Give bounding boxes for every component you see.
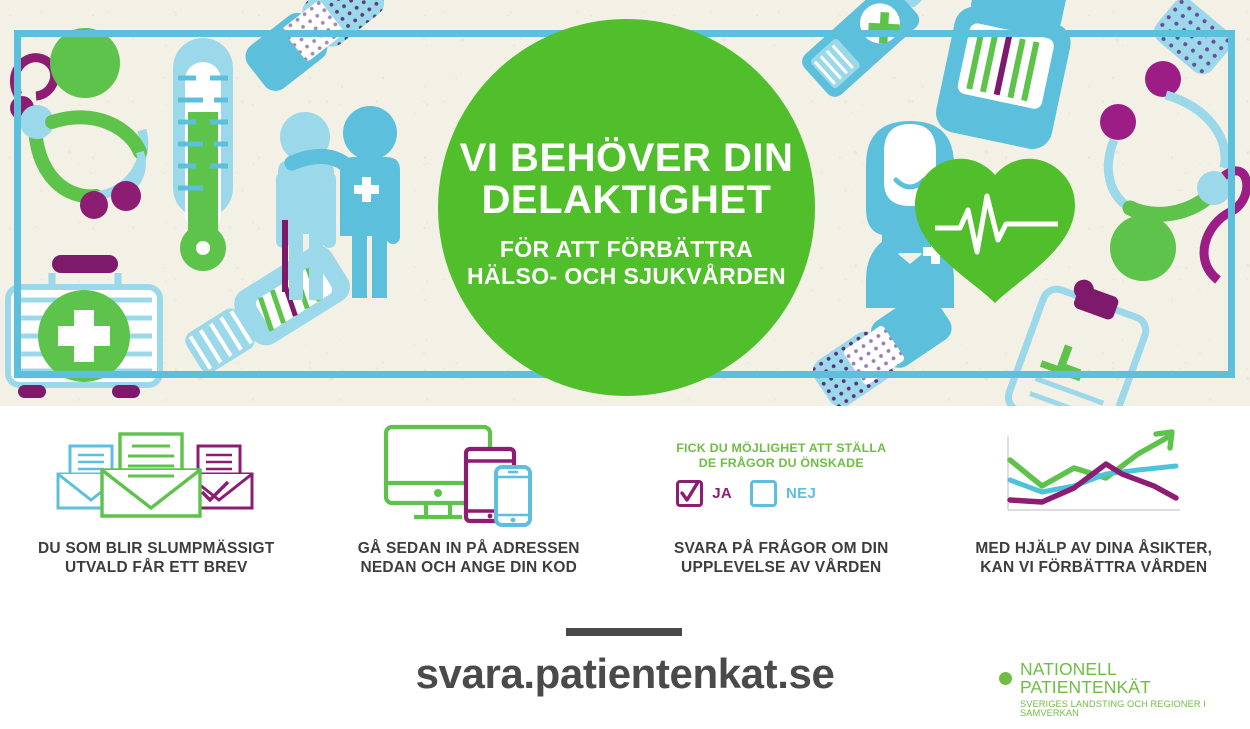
nationell-patientenkat-logo: NATIONELL PATIENTENKÄT SVERIGES LANDSTIN…: [999, 661, 1239, 719]
survey-question-icon: FICK DU MÖJLIGHET ATT STÄLLA DE FRÅGOR D…: [676, 441, 886, 508]
option-no-label: NEJ: [786, 485, 816, 502]
survey-options: JA NEJ: [676, 480, 886, 507]
checkbox-yes-checked[interactable]: [676, 480, 703, 507]
step-3-label: SVARA PÅ FRÅGOR OM DIN UPPLEVELSE AV VÅR…: [674, 540, 889, 578]
poster: VI BEHÖVER DIN DELAKTIGHET FÖR ATT FÖRBÄ…: [0, 0, 1250, 729]
step-2-label: GÅ SEDAN IN PÅ ADRESSEN NEDAN OCH ANGE D…: [358, 540, 580, 578]
step-1-label-line-2: UTVALD FÅR ETT BREV: [38, 559, 274, 578]
logo-tagline: SVERIGES LANDSTING OCH REGIONER I SAMVER…: [1020, 700, 1239, 719]
survey-question-line-1: FICK DU MÖJLIGHET ATT STÄLLA: [676, 441, 886, 456]
step-2: GÅ SEDAN IN PÅ ADRESSEN NEDAN OCH ANGE D…: [313, 418, 626, 608]
step-1: DU SOM BLIR SLUMPMÄSSIGT UTVALD FÅR ETT …: [0, 418, 313, 608]
headline-line-2: DELAKTIGHET: [482, 179, 772, 221]
step-1-label: DU SOM BLIR SLUMPMÄSSIGT UTVALD FÅR ETT …: [38, 540, 274, 578]
step-4-art: [994, 418, 1194, 530]
devices-icon: [374, 419, 564, 529]
logo-top-row: NATIONELL PATIENTENKÄT: [999, 661, 1239, 696]
step-2-label-line-2: NEDAN OCH ANGE DIN KOD: [358, 559, 580, 578]
headline-line-1: VI BEHÖVER DIN: [460, 137, 794, 179]
hero-banner: VI BEHÖVER DIN DELAKTIGHET FÖR ATT FÖRBÄ…: [0, 0, 1250, 406]
option-no[interactable]: NEJ: [750, 480, 816, 507]
step-2-label-line-1: GÅ SEDAN IN PÅ ADRESSEN: [358, 540, 580, 559]
footer-divider: [566, 628, 682, 636]
step-4-label-line-2: KAN VI FÖRBÄTTRA VÅRDEN: [975, 559, 1212, 578]
step-4-label: MED HJÄLP AV DINA ÅSIKTER, KAN VI FÖRBÄT…: [975, 540, 1212, 578]
step-3-label-line-2: UPPLEVELSE AV VÅRDEN: [674, 559, 889, 578]
option-yes[interactable]: JA: [676, 480, 732, 507]
survey-question-line-2: DE FRÅGOR DU ÖNSKADE: [676, 456, 886, 471]
subhead-line-2: HÄLSO- OCH SJUKVÅRDEN: [467, 263, 786, 290]
hero-green-badge: VI BEHÖVER DIN DELAKTIGHET FÖR ATT FÖRBÄ…: [438, 19, 815, 396]
steps-row: DU SOM BLIR SLUMPMÄSSIGT UTVALD FÅR ETT …: [0, 418, 1250, 608]
checkbox-no-unchecked[interactable]: [750, 480, 777, 507]
survey-question-text: FICK DU MÖJLIGHET ATT STÄLLA DE FRÅGOR D…: [676, 441, 886, 471]
step-4-label-line-1: MED HJÄLP AV DINA ÅSIKTER,: [975, 540, 1212, 559]
step-3: FICK DU MÖJLIGHET ATT STÄLLA DE FRÅGOR D…: [625, 418, 938, 608]
step-2-art: [374, 418, 564, 530]
step-3-art: FICK DU MÖJLIGHET ATT STÄLLA DE FRÅGOR D…: [676, 418, 886, 530]
step-4: MED HJÄLP AV DINA ÅSIKTER, KAN VI FÖRBÄT…: [938, 418, 1250, 608]
logo-name: NATIONELL PATIENTENKÄT: [1020, 661, 1239, 696]
step-3-label-line-1: SVARA PÅ FRÅGOR OM DIN: [674, 540, 889, 559]
line-chart-icon: [994, 424, 1194, 524]
option-yes-label: JA: [712, 485, 732, 502]
step-1-label-line-1: DU SOM BLIR SLUMPMÄSSIGT: [38, 540, 274, 559]
envelopes-icon: [46, 424, 266, 524]
subhead-line-1: FÖR ATT FÖRBÄTTRA: [500, 236, 753, 263]
step-1-art: [46, 418, 266, 530]
checkmark-icon: [676, 480, 703, 507]
green-dot-icon: [999, 672, 1012, 685]
